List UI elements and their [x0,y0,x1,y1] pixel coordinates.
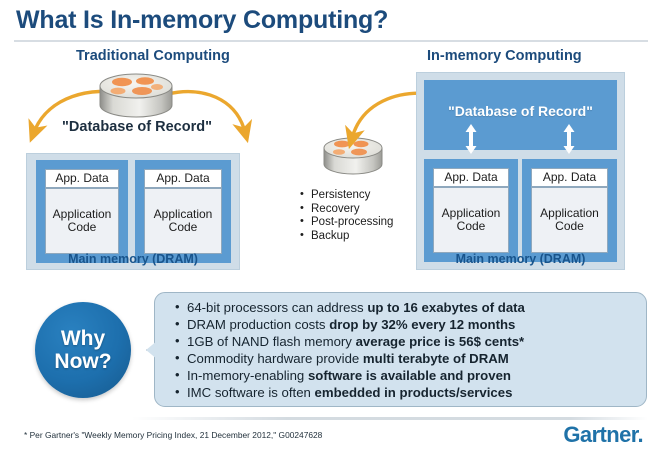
bullet-text-plain: In-memory-enabling [187,368,308,383]
app-container-inmemory-1: App. Data ApplicationCode [424,159,518,262]
list-item: Commodity hardware provide multi terabyt… [175,350,525,367]
database-of-record-label-inmemory: "Database of Record" [448,103,593,119]
app-container-inmemory-2: App. Data ApplicationCode [522,159,617,262]
list-item: Backup [300,230,412,244]
list-item: Persistency [300,189,412,203]
list-item: Post-processing [300,216,412,230]
persistency-bullet-list: Persistency Recovery Post-processing Bac… [300,189,412,243]
heading-inmemory-computing: In-memory Computing [427,48,582,64]
page-title: What Is In-memory Computing? [16,6,388,35]
bullet-text-plain: DRAM production costs [187,317,329,332]
bullet-text-bold: up to 16 exabytes of data [367,300,525,315]
main-memory-label-traditional: Main memory (DRAM) [26,252,240,266]
database-of-record-bar-inmemory: "Database of Record" [424,80,617,150]
double-arrow-icon [562,124,576,154]
list-item: In-memory-enabling software is available… [175,367,525,384]
list-item: IMC software is often embedded in produc… [175,384,525,401]
why-now-badge: Why Now? [35,302,131,398]
list-item: 64-bit processors can address up to 16 e… [175,299,525,316]
app-data-box: App. Data [45,169,119,188]
key-points-list: 64-bit processors can address up to 16 e… [175,299,525,402]
bullet-text-plain: 1GB of NAND flash memory [187,334,356,349]
slide: What Is In-memory Computing? Traditional… [0,0,661,455]
list-item: DRAM production costs drop by 32% every … [175,316,525,333]
app-container-traditional-1: App. Data ApplicationCode [36,160,128,263]
bullet-text-bold: software is available and proven [308,368,511,383]
application-code-box: ApplicationCode [144,188,222,254]
bullet-text-bold: average price is 56$ cents* [356,334,525,349]
footer-divider [132,417,648,420]
why-now-line2: Now? [54,350,111,373]
key-points-callout: 64-bit processors can address up to 16 e… [131,292,647,407]
why-now-label: Why Now? [54,327,111,373]
application-code-box: ApplicationCode [531,187,608,253]
bullet-text-bold: drop by 32% every 12 months [329,317,515,332]
why-now-line1: Why [61,327,105,350]
list-item: Recovery [300,203,412,217]
list-item: 1GB of NAND flash memory average price i… [175,333,525,350]
database-cylinder-traditional [98,72,174,120]
bullet-text-plain: 64-bit processors can address [187,300,367,315]
app-data-box: App. Data [433,168,509,187]
app-container-traditional-2: App. Data ApplicationCode [135,160,231,263]
main-memory-label-inmemory: Main memory (DRAM) [416,252,625,266]
bullet-text-plain: IMC software is often [187,385,315,400]
heading-traditional-computing: Traditional Computing [76,48,230,64]
double-arrow-icon [464,124,478,154]
footnote: * Per Gartner's "Weekly Memory Pricing I… [24,430,322,440]
bullet-text-bold: multi terabyte of DRAM [363,351,509,366]
gartner-logo: Gartner. [563,422,643,448]
app-data-box: App. Data [144,169,222,188]
bullet-text-bold: embedded in products/services [315,385,513,400]
bullet-text-plain: Commodity hardware provide [187,351,363,366]
application-code-box: ApplicationCode [45,188,119,254]
app-data-box: App. Data [531,168,608,187]
database-of-record-label-traditional: "Database of Record" [52,119,222,135]
application-code-box: ApplicationCode [433,187,509,253]
title-divider [14,40,648,42]
